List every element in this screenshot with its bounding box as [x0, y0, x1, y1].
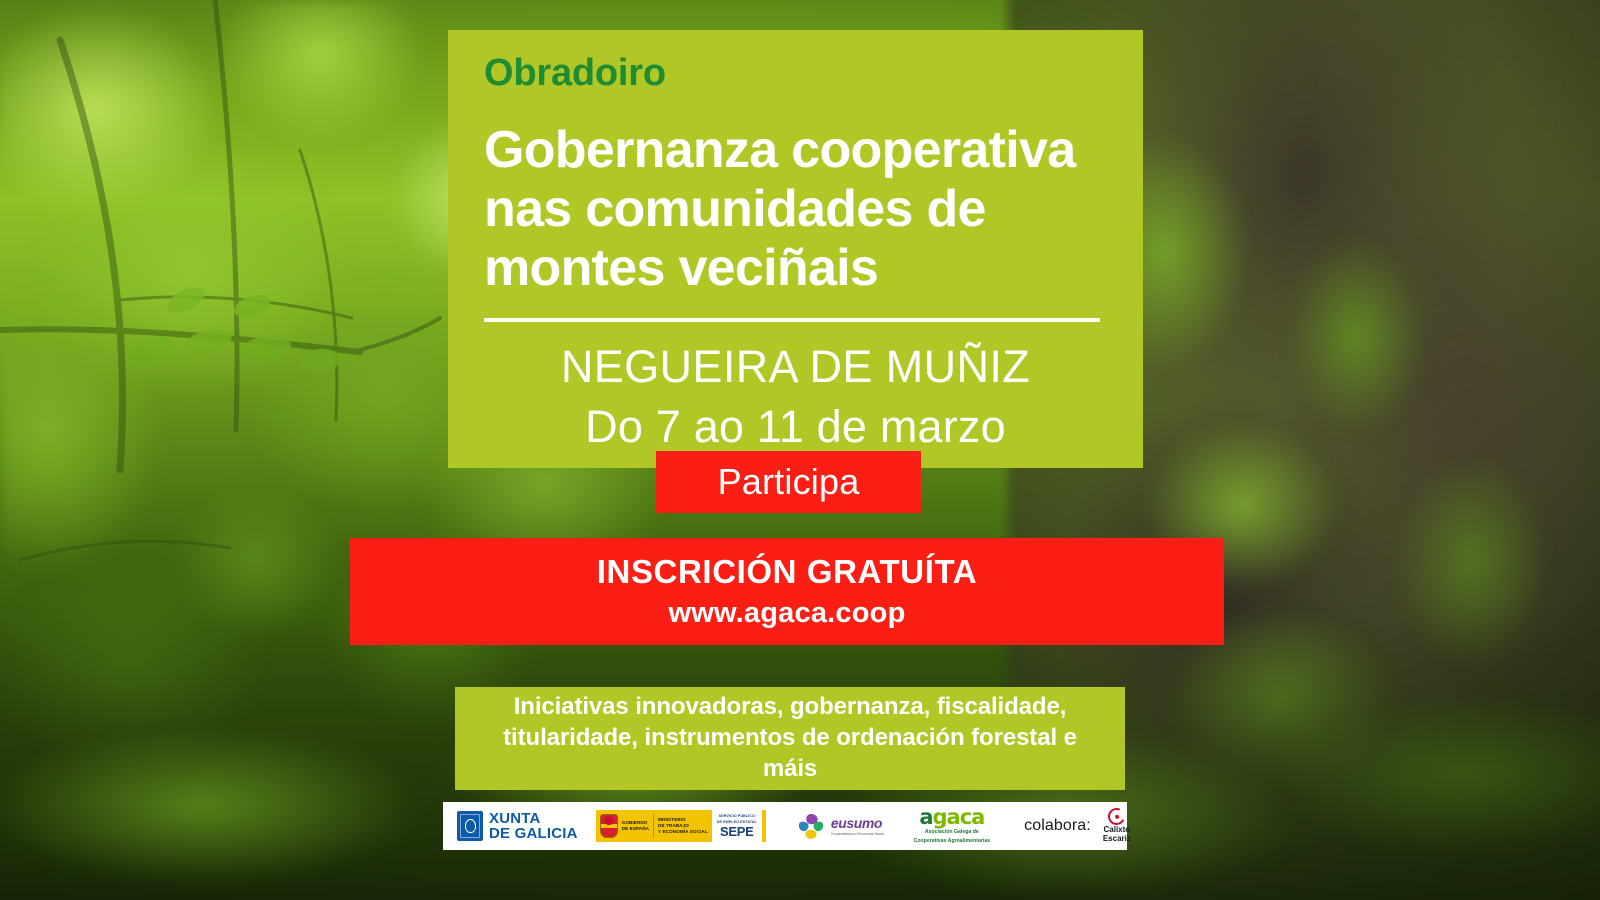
sepe-sub-line-1: SERVICIO PÚBLICO	[719, 814, 755, 819]
agaca-wordmark-a: a	[919, 805, 932, 829]
logo-xunta-de-galicia: XUNTA DE GALICIA	[449, 802, 578, 850]
calixto-line-2: Escariz	[1103, 835, 1131, 844]
agaca-wordmark-rest: gaca	[933, 805, 985, 829]
signup-banner[interactable]: INSCRICIÓN GRATUÍTA www.agaca.coop	[350, 538, 1224, 645]
xunta-line-2: DE GALICIA	[489, 826, 578, 841]
sponsor-logo-strip: XUNTA DE GALICIA GOBIERNO DE ESPAÑA MINI…	[443, 802, 1127, 850]
topics-text: Iniciativas innovadoras, gobernanza, fis…	[473, 692, 1107, 784]
event-location: NEGUEIRA DE MUÑIZ	[484, 342, 1107, 392]
eusumo-wordmark: eusumo	[831, 816, 884, 830]
page-title: Gobernanza cooperativa nas comunidades d…	[484, 121, 1107, 299]
collaborates-label: colabora:	[1024, 802, 1091, 850]
event-dates: Do 7 ao 11 de marzo	[484, 402, 1107, 452]
logo-eusumo: eusumo Cooperativismo e Economía Social	[796, 802, 884, 850]
event-type-kicker: Obradoiro	[484, 52, 1107, 95]
agaca-tagline-1: Asociación Galega de	[925, 829, 979, 836]
logo-gobierno-de-espana: GOBIERNO DE ESPAÑA MINISTERIO DE TRABAJO…	[596, 802, 766, 850]
gobierno-line-2: DE ESPAÑA	[622, 826, 649, 832]
agaca-wordmark: agaca	[919, 807, 984, 828]
participate-button[interactable]: Participa	[656, 451, 921, 513]
sepe-logo: SERVICIO PÚBLICO DE EMPLEO ESTATAL SEPE	[712, 810, 762, 842]
gobierno-text: GOBIERNO DE ESPAÑA	[622, 820, 649, 832]
sepe-wordmark: SEPE	[720, 825, 753, 838]
xunta-logo-text: XUNTA DE GALICIA	[489, 811, 578, 842]
xunta-line-1: XUNTA	[489, 811, 578, 826]
gobierno-yellow-block: GOBIERNO DE ESPAÑA MINISTERIO DE TRABAJO…	[596, 810, 766, 842]
poster-root: Obradoiro Gobernanza cooperativa nas com…	[0, 0, 1600, 900]
title-divider	[484, 318, 1100, 322]
eusumo-pinwheel-icon	[796, 811, 826, 841]
header-card: Obradoiro Gobernanza cooperativa nas com…	[448, 30, 1143, 468]
logo-calixto-escariz: Calixto Escariz	[1103, 802, 1131, 850]
logo-agaca: agaca Asociación Galega de Cooperativas …	[914, 802, 991, 850]
spain-coat-of-arms-icon	[600, 814, 618, 838]
ministerio-line-3: Y ECONOMÍA SOCIAL	[658, 829, 708, 835]
signup-url-link[interactable]: www.agaca.coop	[668, 597, 905, 630]
xunta-shield-icon	[457, 811, 483, 841]
eusumo-tagline: Cooperativismo e Economía Social	[831, 832, 884, 836]
signup-headline: INSCRICIÓN GRATUÍTA	[597, 553, 978, 591]
topics-box: Iniciativas innovadoras, gobernanza, fis…	[455, 687, 1125, 790]
gobierno-divider	[653, 814, 654, 838]
agaca-tagline-2: Cooperativas Agroalimentarias	[914, 838, 991, 845]
ministerio-text: MINISTERIO DE TRABAJO Y ECONOMÍA SOCIAL	[658, 817, 708, 835]
eusumo-text: eusumo Cooperativismo e Economía Social	[831, 816, 884, 836]
calixto-escariz-text: Calixto Escariz	[1103, 826, 1131, 844]
